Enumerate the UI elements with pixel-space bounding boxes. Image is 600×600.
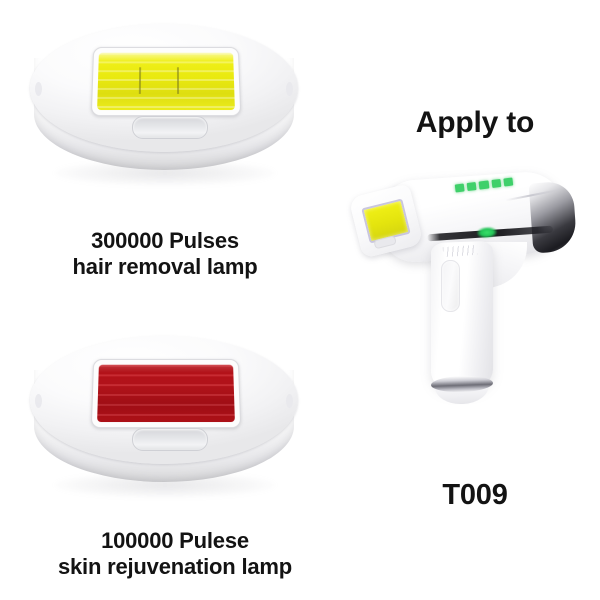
cartridge-rim-nub-right <box>286 82 293 96</box>
device-handle[interactable] <box>431 241 493 391</box>
yellow-lamp-glass <box>97 53 235 110</box>
device-model-label: T009 <box>395 478 555 512</box>
hair-removal-lamp-cartridge[interactable] <box>28 24 300 206</box>
hair-removal-lamp-caption: 300000 Pulses hair removal lamp <box>15 228 315 280</box>
red-lamp-glass <box>97 365 235 422</box>
caption-line-1: 300000 Pulses <box>15 228 315 254</box>
skin-rejuvenation-lamp-cartridge[interactable] <box>28 336 300 518</box>
caption-line-1: 100000 Pulese <box>15 528 335 554</box>
apply-to-label: Apply to <box>350 105 600 140</box>
cartridge-release-tab[interactable] <box>132 116 208 139</box>
cartridge-release-tab[interactable] <box>132 428 208 451</box>
cartridge-rim-nub-right <box>286 394 293 408</box>
device-power-led-icon <box>477 226 498 238</box>
apply-to-heading: Apply to <box>350 105 600 140</box>
level-segment <box>455 183 465 192</box>
level-segment <box>467 182 477 191</box>
lamp-window-frame <box>91 359 241 428</box>
caption-line-2: hair removal lamp <box>15 254 315 280</box>
skin-rejuvenation-lamp-caption: 100000 Pulese skin rejuvenation lamp <box>15 528 335 580</box>
cartridge-rim-nub-left <box>35 394 42 408</box>
model-number: T009 <box>395 478 555 512</box>
product-image-canvas: 300000 Pulses hair removal lamp 100000 P… <box>0 0 600 600</box>
lamp-window-frame <box>91 47 241 116</box>
caption-line-2: skin rejuvenation lamp <box>15 554 335 580</box>
lamp-filament-icon <box>139 67 141 93</box>
level-segment <box>491 179 501 188</box>
cartridge-rim-nub-left <box>35 82 42 96</box>
lamp-filament-icon <box>177 67 179 93</box>
device-power-button[interactable] <box>441 260 460 312</box>
ipl-handheld-device[interactable] <box>355 168 585 443</box>
level-segment <box>479 180 489 189</box>
level-segment <box>503 177 513 186</box>
